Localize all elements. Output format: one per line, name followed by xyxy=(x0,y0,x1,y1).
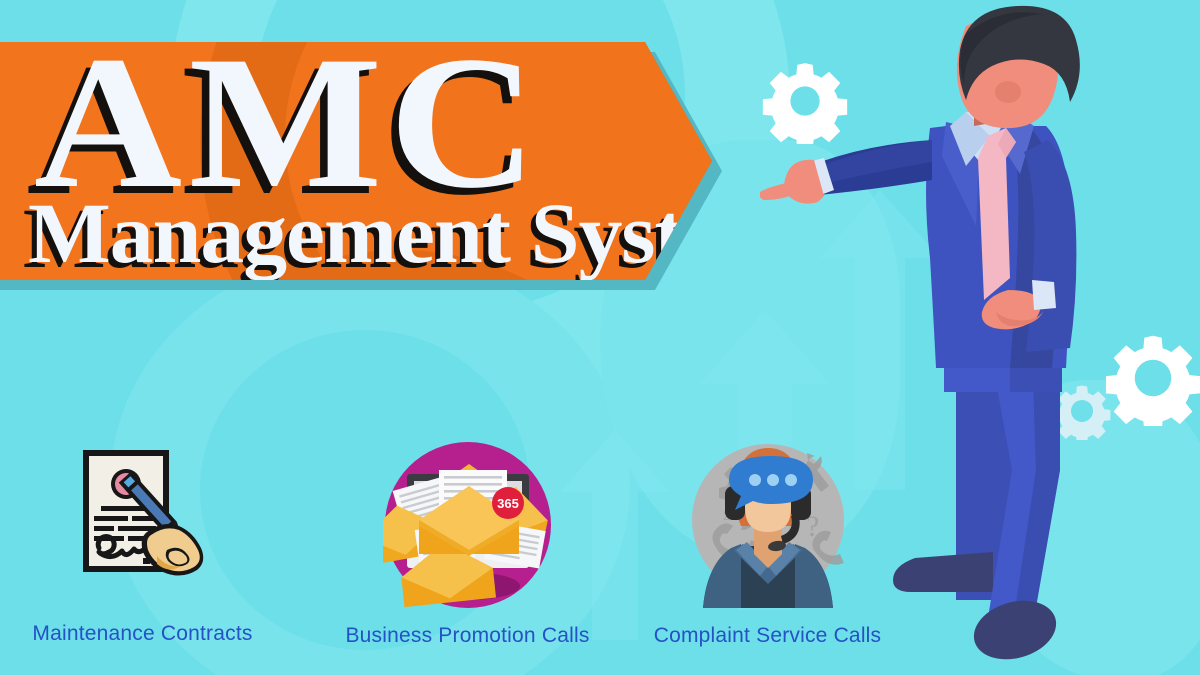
poster-canvas: AMC Management System xyxy=(0,0,1200,675)
feature-label: Complaint Service Calls xyxy=(625,624,910,648)
feature-business-promotion-calls[interactable]: 365 Business Promotion Calls xyxy=(325,440,610,648)
feature-label: Business Promotion Calls xyxy=(325,624,610,648)
support-agent-headset-icon: 24 ? xyxy=(675,428,861,608)
monitor-email-icon: 365 xyxy=(383,440,553,610)
title-banner: AMC Management System xyxy=(0,42,712,280)
feature-complaint-service-calls[interactable]: 24 ? xyxy=(625,428,910,648)
contract-signature-icon xyxy=(63,440,223,600)
feature-maintenance-contracts[interactable]: Maintenance Contracts xyxy=(0,440,285,646)
page-subtitle: Management System xyxy=(28,190,712,276)
feature-label: Maintenance Contracts xyxy=(0,622,285,646)
unread-badge-count: 365 xyxy=(497,496,519,511)
